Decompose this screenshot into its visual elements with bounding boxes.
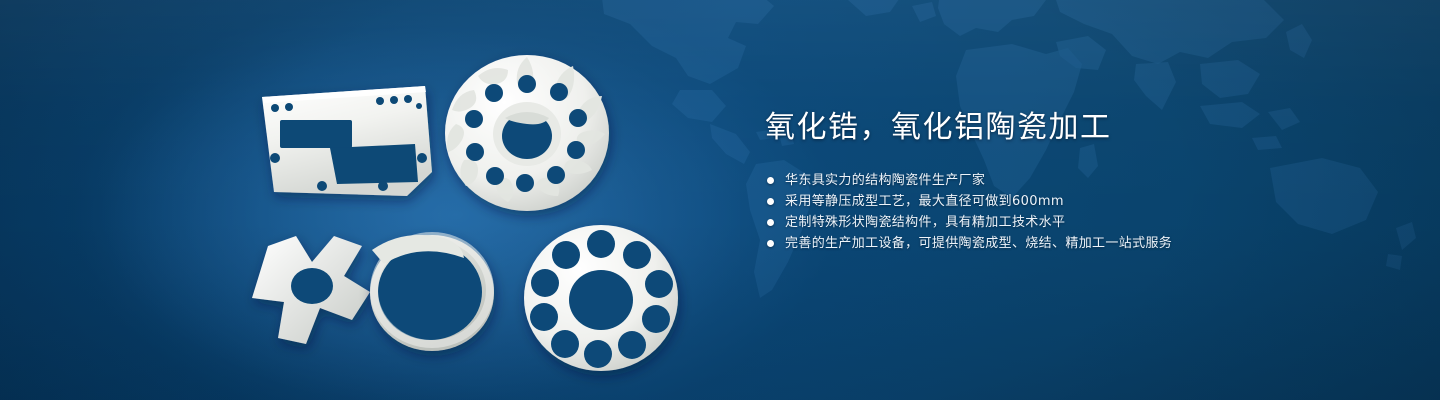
bullet-dot-icon [767, 240, 774, 247]
list-item: 完善的生产加工设备，可提供陶瓷成型、烧结、精加工一站式服务 [767, 233, 1385, 254]
bullet-dot-icon [767, 177, 774, 184]
list-item-label: 定制特殊形状陶瓷结构件，具有精加工技术水平 [785, 212, 1065, 233]
bullet-dot-icon [767, 198, 774, 205]
list-item: 华东具实力的结构陶瓷件生产厂家 [767, 170, 1385, 191]
bullet-dot-icon [767, 219, 774, 226]
banner-copy: 氧化锆，氧化铝陶瓷加工 华东具实力的结构陶瓷件生产厂家 采用等静压成型工艺，最大… [765, 108, 1385, 254]
list-item: 采用等静压成型工艺，最大直径可做到600mm [767, 191, 1385, 212]
page-title: 氧化锆，氧化铝陶瓷加工 [765, 108, 1385, 148]
promo-banner: 氧化锆，氧化铝陶瓷加工 华东具实力的结构陶瓷件生产厂家 采用等静压成型工艺，最大… [0, 0, 1440, 400]
feature-list: 华东具实力的结构陶瓷件生产厂家 采用等静压成型工艺，最大直径可做到600mm 定… [767, 170, 1385, 254]
list-item-label: 华东具实力的结构陶瓷件生产厂家 [785, 170, 985, 191]
list-item: 定制特殊形状陶瓷结构件，具有精加工技术水平 [767, 212, 1385, 233]
list-item-label: 完善的生产加工设备，可提供陶瓷成型、烧结、精加工一站式服务 [785, 233, 1172, 254]
list-item-label: 采用等静压成型工艺，最大直径可做到600mm [785, 191, 1064, 212]
